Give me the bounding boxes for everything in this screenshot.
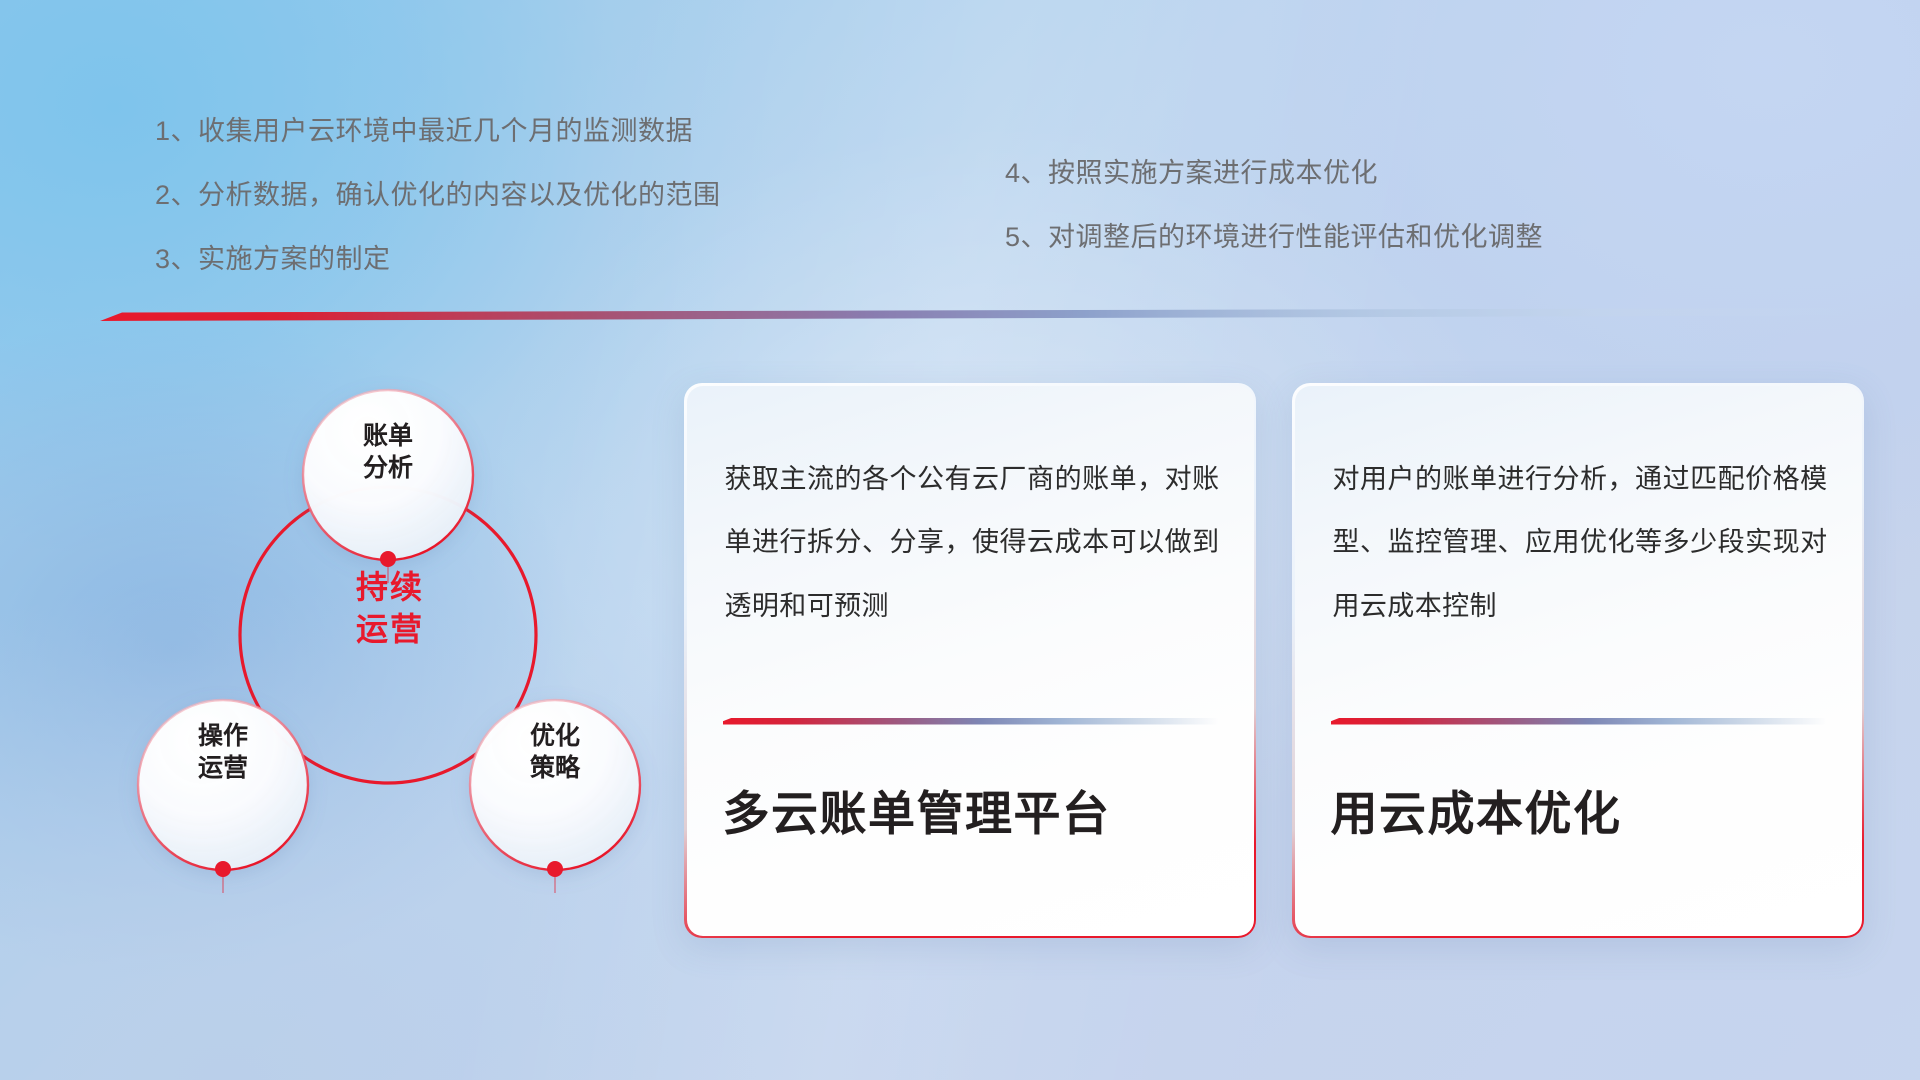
card-inner-surface: 获取主流的各个公有云厂商的账单，对账单进行拆分、分享，使得云成本可以做到透明和可… [687,386,1254,936]
diagram-node-operations[interactable] [138,700,308,870]
step-item-1: 1、收集用户云环境中最近几个月的监测数据 [155,118,721,145]
slide-canvas: 1、收集用户云环境中最近几个月的监测数据 2、分析数据，确认优化的内容以及优化的… [0,0,1920,1080]
card-inner-surface: 对用户的账单进行分析，通过匹配价格模型、监控管理、应用优化等多少段实现对用云成本… [1295,386,1862,936]
section-divider-shape [100,308,1860,322]
step-item-3: 3、实施方案的制定 [155,246,721,273]
step-item-5: 5、对调整后的环境进行性能评估和优化调整 [1005,224,1543,251]
card-title: 多云账单管理平台 [723,786,1224,842]
feature-card-multi-cloud-billing-platform[interactable]: 获取主流的各个公有云厂商的账单，对账单进行拆分、分享，使得云成本可以做到透明和可… [684,383,1256,938]
card-accent-rule [1331,718,1826,725]
step-item-4: 4、按照实施方案进行成本优化 [1005,160,1543,187]
step-item-2: 2、分析数据，确认优化的内容以及优化的范围 [155,182,721,209]
card-accent-rule [723,718,1218,725]
diagram-dot-right [547,861,563,877]
steps-list-left: 1、收集用户云环境中最近几个月的监测数据 2、分析数据，确认优化的内容以及优化的… [155,118,721,273]
diagram-shapes [95,345,695,945]
diagram-dot-left [215,861,231,877]
diagram-node-bill-analysis[interactable] [303,390,473,560]
card-description: 对用户的账单进行分析，通过匹配价格模型、监控管理、应用优化等多少段实现对用云成本… [1333,448,1828,639]
continuous-operation-diagram: 账单 分析 操作 运营 优化 策略 持续 运营 [95,345,695,945]
diagram-dot-top [380,551,396,567]
card-description: 获取主流的各个公有云厂商的账单，对账单进行拆分、分享，使得云成本可以做到透明和可… [725,448,1220,639]
section-divider [100,308,1860,322]
diagram-node-optimization[interactable] [470,700,640,870]
steps-list-right: 4、按照实施方案进行成本优化 5、对调整后的环境进行性能评估和优化调整 [1005,160,1543,251]
feature-card-cloud-cost-optimization[interactable]: 对用户的账单进行分析，通过匹配价格模型、监控管理、应用优化等多少段实现对用云成本… [1292,383,1864,938]
card-title: 用云成本优化 [1331,786,1832,842]
